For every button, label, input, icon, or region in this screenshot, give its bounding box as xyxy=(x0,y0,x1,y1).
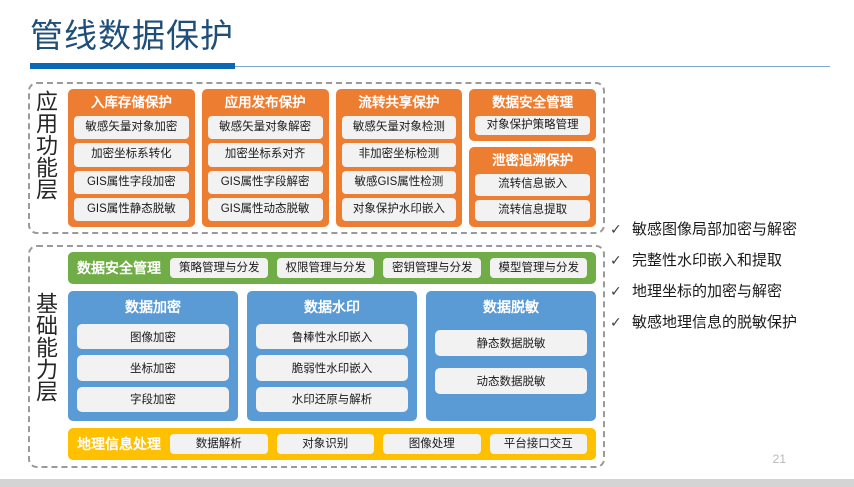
check-icon: ✓ xyxy=(610,214,623,245)
panel-item[interactable]: 图像加密 xyxy=(77,324,229,349)
list-item-label: 敏感图像局部加密与解密 xyxy=(632,214,797,245)
list-item: ✓ 敏感地理信息的脱敏保护 xyxy=(610,307,848,338)
gis-item[interactable]: 数据解析 xyxy=(170,434,268,454)
list-item: ✓ 地理坐标的加密与解密 xyxy=(610,276,848,307)
app-group-title: 入库存储保护 xyxy=(74,93,189,112)
app-column-2: 应用发布保护 敏感矢量对象解密 加密坐标系对齐 GIS属性字段解密 GIS属性动… xyxy=(202,89,329,227)
app-item[interactable]: GIS属性动态脱敏 xyxy=(208,198,323,221)
panel-item[interactable]: 坐标加密 xyxy=(77,355,229,380)
app-group-title: 泄密追溯保护 xyxy=(475,151,590,170)
app-group-xiemi-zhuisu-baohu[interactable]: 泄密追溯保护 流转信息嵌入 流转信息提取 xyxy=(469,147,596,227)
app-group-yingyong-fabu-baohu[interactable]: 应用发布保护 敏感矢量对象解密 加密坐标系对齐 GIS属性字段解密 GIS属性动… xyxy=(202,89,329,227)
data-security-management-title: 数据安全管理 xyxy=(77,258,161,278)
list-item: ✓ 完整性水印嵌入和提取 xyxy=(610,245,848,276)
base-capability-layer-label: 基础能力层 xyxy=(34,292,57,402)
app-group-title: 流转共享保护 xyxy=(342,93,457,112)
capability-panels-row: 数据加密 图像加密 坐标加密 字段加密 数据水印 鲁棒性水印嵌入 脆弱性水印嵌入… xyxy=(68,291,596,421)
app-item[interactable]: 敏感GIS属性检测 xyxy=(342,171,457,194)
app-item[interactable]: 敏感矢量对象检测 xyxy=(342,116,457,139)
management-item[interactable]: 密钥管理与分发 xyxy=(383,258,481,278)
panel-item[interactable]: 动态数据脱敏 xyxy=(435,368,587,394)
app-group-title: 数据安全管理 xyxy=(475,93,590,112)
title-rule-thick xyxy=(30,63,235,69)
panel-item[interactable]: 鲁棒性水印嵌入 xyxy=(256,324,408,349)
data-security-management-bar: 数据安全管理 策略管理与分发 权限管理与分发 密钥管理与分发 模型管理与分发 xyxy=(68,252,596,284)
app-item[interactable]: GIS属性字段解密 xyxy=(208,171,323,194)
app-item[interactable]: 非加密坐标检测 xyxy=(342,143,457,166)
check-icon: ✓ xyxy=(610,307,623,338)
page-title: 管线数据保护 xyxy=(30,14,234,58)
panel-title: 数据水印 xyxy=(256,296,408,318)
list-item-label: 完整性水印嵌入和提取 xyxy=(632,245,782,276)
app-item[interactable]: 对象保护策略管理 xyxy=(475,116,590,135)
app-column-4: 数据安全管理 对象保护策略管理 泄密追溯保护 流转信息嵌入 流转信息提取 xyxy=(469,89,596,227)
app-item[interactable]: 加密坐标系对齐 xyxy=(208,143,323,166)
app-group-ruku-cunchu-baohu[interactable]: 入库存储保护 敏感矢量对象加密 加密坐标系转化 GIS属性字段加密 GIS属性静… xyxy=(68,89,195,227)
gis-processing-bar: 地理信息处理 数据解析 对象识别 图像处理 平台接口交互 xyxy=(68,428,596,460)
panel-item[interactable]: 字段加密 xyxy=(77,387,229,412)
highlights-list: ✓ 敏感图像局部加密与解密 ✓ 完整性水印嵌入和提取 ✓ 地理坐标的加密与解密 … xyxy=(610,214,848,338)
app-item[interactable]: 敏感矢量对象加密 xyxy=(74,116,189,139)
application-layer-label: 应用功能层 xyxy=(34,90,57,200)
panel-item[interactable]: 静态数据脱敏 xyxy=(435,330,587,356)
application-layer-columns: 入库存储保护 敏感矢量对象加密 加密坐标系转化 GIS属性字段加密 GIS属性静… xyxy=(68,89,596,227)
list-item: ✓ 敏感图像局部加密与解密 xyxy=(610,214,848,245)
panel-item[interactable]: 脆弱性水印嵌入 xyxy=(256,355,408,380)
app-group-title: 应用发布保护 xyxy=(208,93,323,112)
app-item[interactable]: GIS属性字段加密 xyxy=(74,171,189,194)
gis-item[interactable]: 图像处理 xyxy=(383,434,481,454)
app-column-3: 流转共享保护 敏感矢量对象检测 非加密坐标检测 敏感GIS属性检测 对象保护水印… xyxy=(336,89,463,227)
panel-data-masking[interactable]: 数据脱敏 静态数据脱敏 动态数据脱敏 xyxy=(426,291,596,421)
app-group-liuzhuan-gongxiang-baohu[interactable]: 流转共享保护 敏感矢量对象检测 非加密坐标检测 敏感GIS属性检测 对象保护水印… xyxy=(336,89,463,227)
panel-data-encryption[interactable]: 数据加密 图像加密 坐标加密 字段加密 xyxy=(68,291,238,421)
check-icon: ✓ xyxy=(610,245,623,276)
app-item[interactable]: 敏感矢量对象解密 xyxy=(208,116,323,139)
gis-item[interactable]: 对象识别 xyxy=(277,434,375,454)
app-item[interactable]: GIS属性静态脱敏 xyxy=(74,198,189,221)
management-item[interactable]: 策略管理与分发 xyxy=(170,258,268,278)
list-item-label: 地理坐标的加密与解密 xyxy=(632,276,782,307)
panel-title: 数据加密 xyxy=(77,296,229,318)
panel-data-watermark[interactable]: 数据水印 鲁棒性水印嵌入 脆弱性水印嵌入 水印还原与解析 xyxy=(247,291,417,421)
base-capability-layer-content: 数据安全管理 策略管理与分发 权限管理与分发 密钥管理与分发 模型管理与分发 数… xyxy=(68,252,596,460)
panel-item[interactable]: 水印还原与解析 xyxy=(256,387,408,412)
page-number: 21 xyxy=(773,452,786,466)
panel-title: 数据脱敏 xyxy=(435,296,587,318)
app-item[interactable]: 对象保护水印嵌入 xyxy=(342,198,457,221)
management-item[interactable]: 模型管理与分发 xyxy=(490,258,588,278)
bottom-chrome-strip xyxy=(0,479,854,487)
app-item[interactable]: 流转信息提取 xyxy=(475,200,590,222)
gis-item[interactable]: 平台接口交互 xyxy=(490,434,588,454)
app-item[interactable]: 加密坐标系转化 xyxy=(74,143,189,166)
app-group-shuju-anquan-guanli[interactable]: 数据安全管理 对象保护策略管理 xyxy=(469,89,596,141)
check-icon: ✓ xyxy=(610,276,623,307)
list-item-label: 敏感地理信息的脱敏保护 xyxy=(632,307,797,338)
app-column-1: 入库存储保护 敏感矢量对象加密 加密坐标系转化 GIS属性字段加密 GIS属性静… xyxy=(68,89,195,227)
app-item[interactable]: 流转信息嵌入 xyxy=(475,174,590,196)
management-item[interactable]: 权限管理与分发 xyxy=(277,258,375,278)
gis-processing-title: 地理信息处理 xyxy=(77,434,161,454)
